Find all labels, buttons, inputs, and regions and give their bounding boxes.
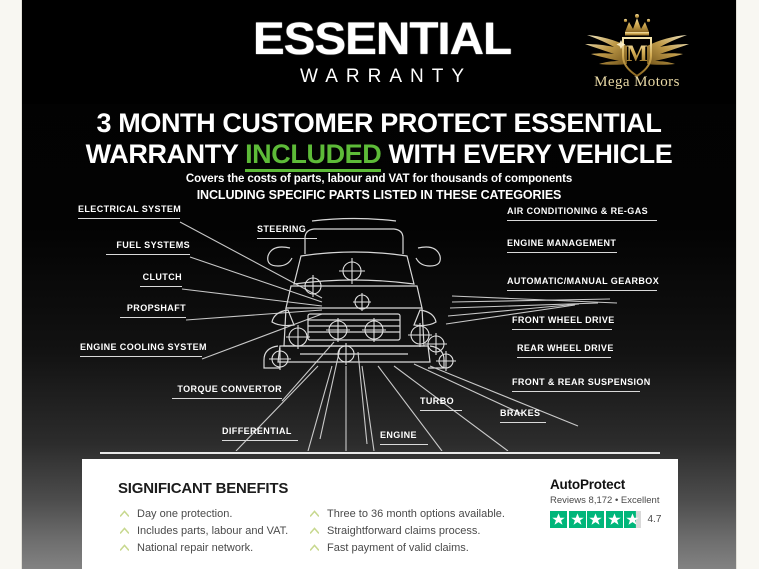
diagram-label-torque-convertor: TORQUE CONVERTOR [172,384,282,399]
covered-parts-diagram: ELECTRICAL SYSTEM FUEL SYSTEMS CLUTCH PR… [22,196,736,451]
benefits-column-2: Three to 36 month options available. Str… [310,506,505,557]
star-icon-filled [569,511,586,528]
left-margin [0,0,22,569]
list-item: Three to 36 month options available. [310,506,505,523]
autoprotect-brand: AutoProtect [550,477,670,492]
diagram-label-electrical-system: ELECTRICAL SYSTEM [78,204,180,219]
diagram-label-air-conditioning: AIR CONDITIONING & RE-GAS [507,206,657,221]
list-item-label: National repair network. [137,542,253,554]
diagram-label-clutch: CLUTCH [140,272,182,287]
headline-line-2: WARRANTY INCLUDED WITH EVERY VEHICLE [22,139,736,170]
diagram-label-engine: ENGINE [380,430,428,445]
diagram-label-propshaft: PROPSHAFT [120,303,186,318]
star-icon-filled [550,511,567,528]
page-headline: 3 MONTH CUSTOMER PROTECT ESSENTIAL WARRA… [22,108,736,170]
chevron-up-icon [310,544,319,551]
diagram-leader-lines-and-car-icon [22,196,736,451]
svg-text:M: M [626,41,648,66]
diagram-label-fuel-systems: FUEL SYSTEMS [106,240,190,255]
essential-title: ESSENTIAL [228,16,535,62]
diagram-label-gearbox: AUTOMATIC/MANUAL GEARBOX [507,276,657,291]
panel-divider [100,452,660,454]
benefits-column-1: Day one protection. Includes parts, labo… [120,506,288,557]
autoprotect-reviews: Reviews 8,172 • Excellent [550,495,670,506]
subheading-line-1: Covers the costs of parts, labour and VA… [22,172,736,187]
diagram-label-engine-cooling-system: ENGINE COOLING SYSTEM [80,342,202,357]
trustpilot-star-rating: 4.7 [550,511,670,528]
list-item-label: Day one protection. [137,508,232,520]
left-hairline [21,0,22,569]
chevron-up-icon [310,527,319,534]
poster-header: ESSENTIAL WARRANTY [22,0,736,104]
essential-warranty-wordmark: ESSENTIAL WARRANTY [237,16,527,89]
star-icon-partial [624,511,641,528]
headline-included-highlight: INCLUDED [245,139,381,172]
chevron-up-icon [120,510,129,517]
list-item: National repair network. [120,540,288,557]
star-icon-filled [587,511,604,528]
diagram-label-turbo: TURBO [420,396,462,411]
chevron-up-icon [120,544,129,551]
right-margin [736,0,759,569]
diagram-label-front-rear-suspension: FRONT & REAR SUSPENSION [512,377,640,392]
rating-score: 4.7 [648,514,662,525]
list-item: Fast payment of valid claims. [310,540,505,557]
list-item-label: Straightforward claims process. [327,525,480,537]
poster-frame: ESSENTIAL WARRANTY [0,0,759,569]
diagram-label-engine-management: ENGINE MANAGEMENT [507,238,617,253]
mega-motors-logo: M Mega Motors [567,10,707,102]
warranty-subtitle: WARRANTY [237,65,527,89]
list-item: Includes parts, labour and VAT. [120,523,288,540]
diagram-label-rear-wheel-drive: REAR WHEEL DRIVE [517,343,611,358]
headline-line2-pre: WARRANTY [86,139,245,169]
diagram-label-front-wheel-drive: FRONT WHEEL DRIVE [512,315,612,330]
logo-wordmark: Mega Motors [567,74,707,91]
diagram-label-steering: STEERING [257,224,317,239]
diagram-label-differential: DIFFERENTIAL [222,426,298,441]
headline-line2-post: WITH EVERY VEHICLE [381,139,672,169]
list-item-label: Fast payment of valid claims. [327,542,469,554]
list-item-label: Includes parts, labour and VAT. [137,525,288,537]
benefits-panel: SIGNIFICANT BENEFITS Day one protection.… [82,459,678,569]
list-item-label: Three to 36 month options available. [327,508,505,520]
autoprotect-rating: AutoProtect Reviews 8,172 • Excellent 4.… [550,477,670,528]
list-item: Day one protection. [120,506,288,523]
star-icon-filled [606,511,623,528]
chevron-up-icon [310,510,319,517]
chevron-up-icon [120,527,129,534]
diagram-label-brakes: BRAKES [500,408,546,423]
right-hairline [736,0,737,569]
benefits-title: SIGNIFICANT BENEFITS [118,480,288,497]
warranty-poster: ESSENTIAL WARRANTY [22,0,736,569]
list-item: Straightforward claims process. [310,523,505,540]
headline-line-1: 3 MONTH CUSTOMER PROTECT ESSENTIAL [22,108,736,139]
